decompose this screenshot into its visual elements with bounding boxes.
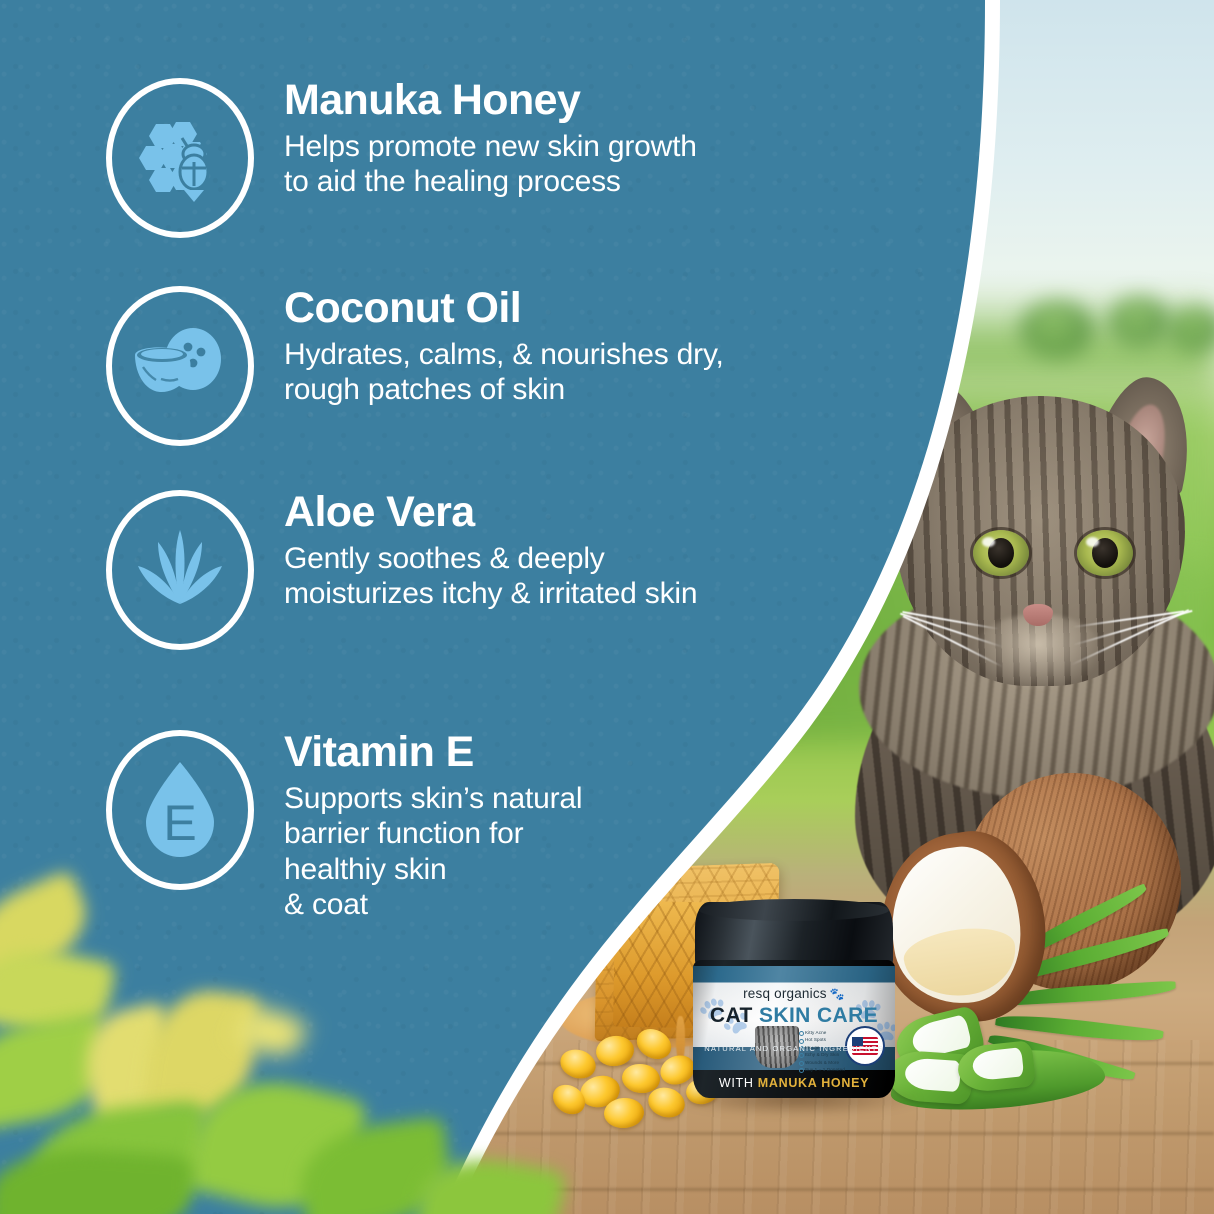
ingredient-desc-line: & coat bbox=[284, 887, 582, 922]
ingredient-row-aloe-vera: Aloe Vera Gently soothes & deeply moistu… bbox=[106, 490, 697, 650]
ingredient-desc: Helps promote new skin growth to aid the… bbox=[284, 129, 697, 200]
ingredient-list: Manuka Honey Helps promote new skin grow… bbox=[0, 0, 1214, 1214]
honeycomb-bee-icon bbox=[106, 78, 254, 238]
aloe-plant-icon bbox=[106, 490, 254, 650]
ingredient-title: Manuka Honey bbox=[284, 78, 697, 123]
ingredient-row-vitamin-e: E Vitamin E Supports skin’s natural barr… bbox=[106, 730, 582, 922]
ingredient-desc: Gently soothes & deeply moisturizes itch… bbox=[284, 541, 697, 612]
ingredient-row-manuka-honey: Manuka Honey Helps promote new skin grow… bbox=[106, 78, 697, 238]
ingredient-desc-line: rough patches of skin bbox=[284, 372, 724, 407]
ingredient-desc: Hydrates, calms, & nourishes dry, rough … bbox=[284, 337, 724, 408]
ingredient-title: Aloe Vera bbox=[284, 490, 697, 535]
ingredient-text-manuka-honey: Manuka Honey Helps promote new skin grow… bbox=[254, 78, 697, 200]
ingredient-desc-line: Helps promote new skin growth bbox=[284, 129, 697, 164]
coconut-icon bbox=[106, 286, 254, 446]
ingredient-desc-line: Hydrates, calms, & nourishes dry, bbox=[284, 337, 724, 372]
svg-text:E: E bbox=[163, 795, 196, 851]
ingredient-desc-line: to aid the healing process bbox=[284, 164, 697, 199]
ingredient-desc-line: healthiy skin bbox=[284, 852, 582, 887]
ingredient-desc-line: barrier function for bbox=[284, 816, 582, 851]
ingredient-title: Coconut Oil bbox=[284, 286, 724, 331]
ingredient-title: Vitamin E bbox=[284, 730, 582, 775]
ingredient-text-vitamin-e: Vitamin E Supports skin’s natural barrie… bbox=[254, 730, 582, 922]
ingredient-desc-line: moisturizes itchy & irritated skin bbox=[284, 576, 697, 611]
ingredient-row-coconut-oil: Coconut Oil Hydrates, calms, & nourishes… bbox=[106, 286, 724, 446]
ingredient-text-coconut-oil: Coconut Oil Hydrates, calms, & nourishes… bbox=[254, 286, 724, 408]
water-droplet-e-icon: E bbox=[106, 730, 254, 890]
ingredient-desc: Supports skin’s natural barrier function… bbox=[284, 781, 582, 923]
ingredient-desc-line: Gently soothes & deeply bbox=[284, 541, 697, 576]
ingredient-desc-line: Supports skin’s natural bbox=[284, 781, 582, 816]
infographic-canvas: 🐾 🐾 resq organics🐾 CAT SKIN CARE Kitty A… bbox=[0, 0, 1214, 1214]
ingredient-text-aloe-vera: Aloe Vera Gently soothes & deeply moistu… bbox=[254, 490, 697, 612]
